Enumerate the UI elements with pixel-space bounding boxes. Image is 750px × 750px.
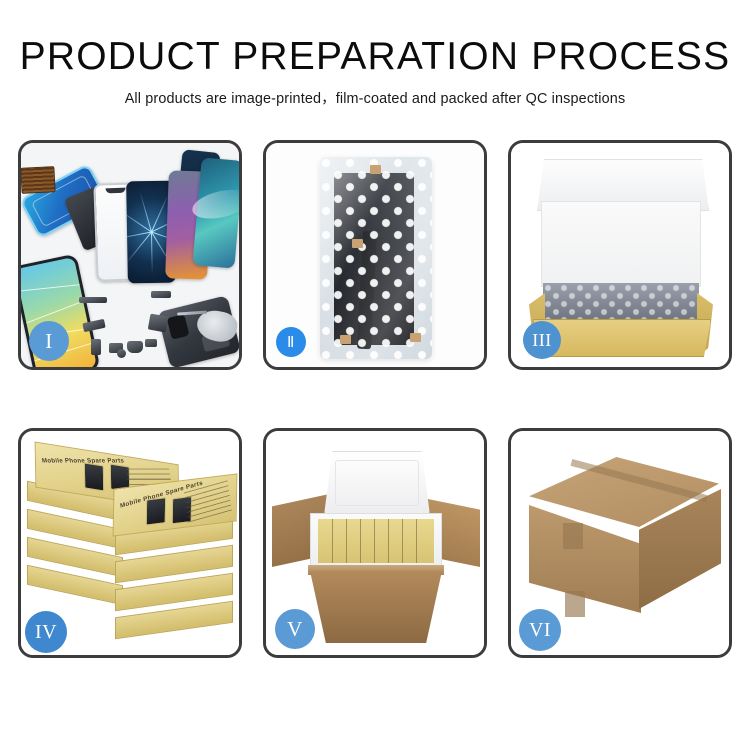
page-title: PRODUCT PREPARATION PROCESS [0, 36, 750, 78]
small-part [127, 341, 143, 353]
step-badge-6: VI [519, 609, 561, 651]
step-6-illustration: VI [511, 431, 729, 655]
tape-piece [352, 239, 363, 248]
carton-tape-tab [563, 523, 583, 549]
product-photo-thumb [146, 497, 166, 526]
bubble-wrapped-contents [543, 283, 699, 321]
step-4-illustration: Mobile Phone Spare Parts Mobile Phone Sp… [21, 431, 239, 655]
tape-piece [340, 335, 351, 344]
step-badge-2: Ⅱ [276, 327, 306, 357]
process-step-panel-3: III [508, 140, 732, 370]
small-part [79, 297, 107, 303]
header: PRODUCT PREPARATION PROCESS All products… [0, 36, 750, 108]
teal-gradient-phone [192, 157, 239, 268]
phone-notch [105, 188, 125, 194]
step-badge-1: I [29, 321, 69, 361]
bubble-wrap-texture [543, 283, 699, 321]
plastic-sheen [320, 157, 432, 359]
stacked-boxes: Mobile Phone Spare Parts Mobile Phone Sp… [27, 447, 233, 639]
product-preparation-infographic: PRODUCT PREPARATION PROCESS All products… [0, 0, 750, 750]
step-badge-3: III [523, 321, 561, 359]
process-step-panel-5: V [263, 428, 487, 658]
small-part [151, 291, 171, 298]
page-subtitle: All products are image-printed，film-coat… [0, 87, 750, 108]
step-5-illustration: V [266, 431, 484, 655]
carton-tape-tab [565, 591, 585, 617]
packed-retail-boxes [318, 519, 434, 563]
step-badge-4: IV [25, 611, 67, 653]
foam-box-lid [324, 451, 430, 515]
process-step-panel-4: Mobile Phone Spare Parts Mobile Phone Sp… [18, 428, 242, 658]
small-part [117, 349, 126, 358]
foam-sheet [541, 201, 701, 287]
small-part [145, 339, 157, 347]
step-3-illustration: III [511, 143, 729, 367]
step-1-illustration: I [21, 143, 239, 367]
small-part [148, 314, 169, 333]
process-step-panel-6: VI [508, 428, 732, 658]
step-badge-5: V [275, 609, 315, 649]
small-part [91, 339, 101, 355]
step-2-illustration: Ⅱ [266, 143, 484, 367]
carton-front-panel [310, 571, 442, 643]
process-step-panel-2: Ⅱ [263, 140, 487, 370]
process-step-grid: I Ⅱ [18, 140, 732, 658]
process-step-panel-1: I [18, 140, 242, 370]
chip-grid-part [21, 166, 56, 194]
product-photo-thumb [84, 462, 104, 491]
tape-piece [370, 165, 381, 174]
bubble-wrapped-screen [320, 157, 432, 359]
tape-piece [410, 333, 421, 342]
